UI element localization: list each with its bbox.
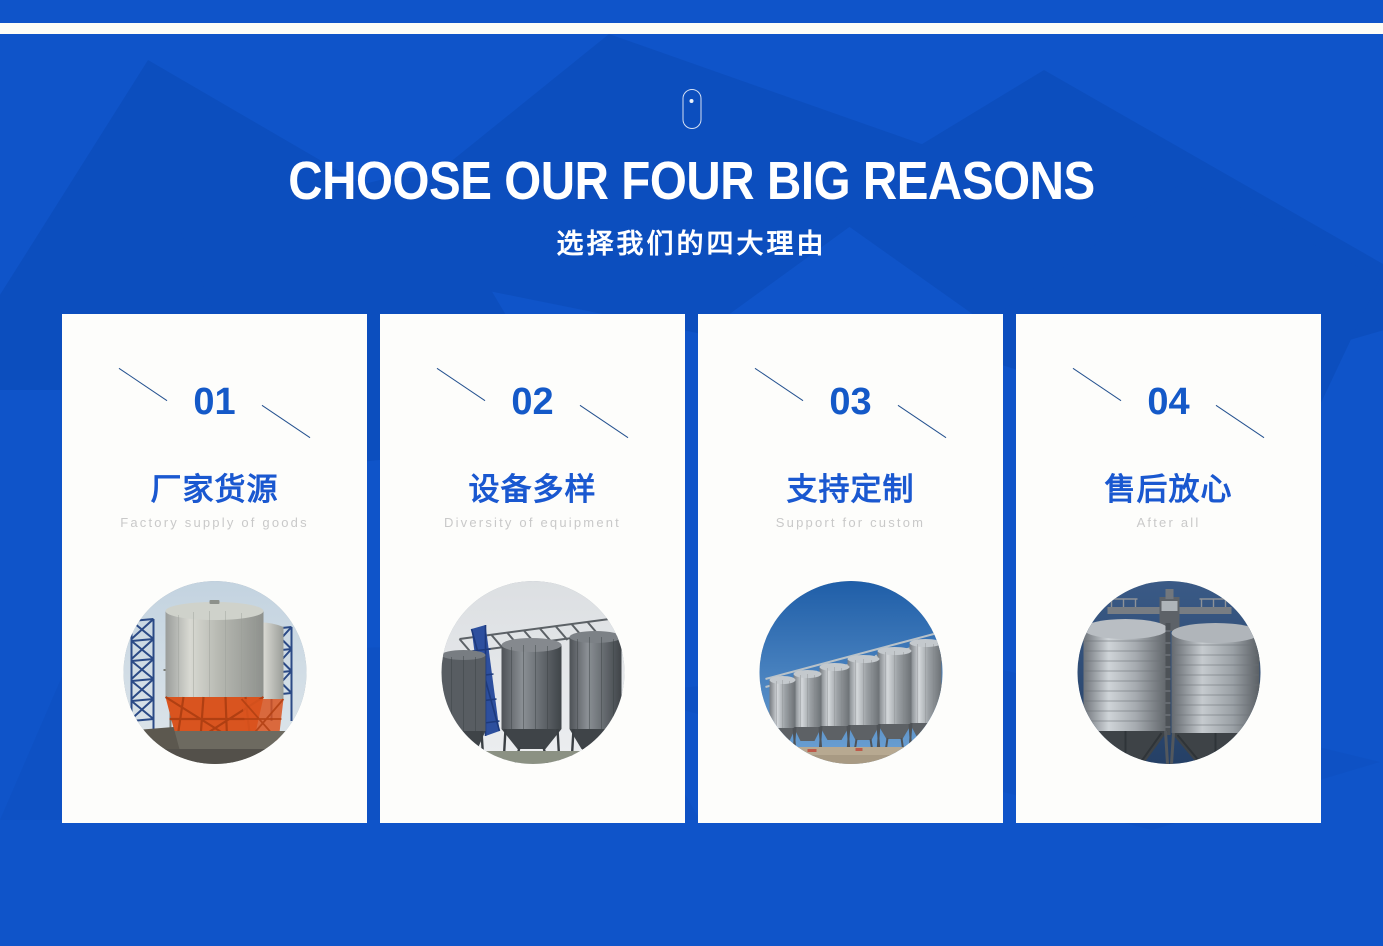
diagonal-line-right-icon (1216, 405, 1265, 438)
card-title-cn: 支持定制 (698, 464, 1003, 509)
diagonal-line-right-icon (262, 405, 311, 438)
reason-card[interactable]: 02 设备多样 Diversity of equipment (380, 314, 685, 823)
card-title-cn: 厂家货源 (62, 464, 367, 509)
card-title-cn: 设备多样 (380, 464, 685, 509)
diagonal-line-right-icon (898, 405, 947, 438)
card-number-wrap: 04 (1016, 372, 1321, 432)
mouse-scroll-dot (690, 99, 694, 103)
card-number-wrap: 02 (380, 372, 685, 432)
silo-row-blue-sky-photo (759, 581, 942, 764)
page-subtitle: 选择我们的四大理由 (0, 222, 1383, 261)
card-number: 03 (829, 383, 871, 421)
card-number: 04 (1147, 383, 1189, 421)
card-title-en: Support for custom (698, 514, 1003, 533)
reason-card[interactable]: 01 厂家货源 Factory supply of goods (62, 314, 367, 823)
reason-card[interactable]: 04 售后放心 After all (1016, 314, 1321, 823)
card-title-cn: 售后放心 (1016, 464, 1321, 509)
top-blue-strip (0, 0, 1383, 23)
diagonal-line-left-icon (755, 368, 804, 401)
card-title-en: After all (1016, 514, 1321, 533)
page-title: CHOOSE OUR FOUR BIG REASONS (83, 154, 1300, 208)
silo-cluster-conveyor-photo (441, 581, 624, 764)
top-white-divider (0, 23, 1383, 34)
reason-card-list: 01 厂家货源 Factory supply of goods (62, 314, 1321, 823)
twin-silos-closeup-photo (1077, 581, 1260, 764)
card-number-wrap: 01 (62, 372, 367, 432)
card-number-wrap: 03 (698, 372, 1003, 432)
card-title-en: Diversity of equipment (380, 514, 685, 533)
diagonal-line-left-icon (1073, 368, 1122, 401)
reason-card[interactable]: 03 支持定制 Support for custom (698, 314, 1003, 823)
diagonal-line-left-icon (119, 368, 168, 401)
card-number: 01 (193, 383, 235, 421)
page-root: CHOOSE OUR FOUR BIG REASONS 选择我们的四大理由 01… (0, 0, 1383, 946)
diagonal-line-right-icon (580, 405, 629, 438)
diagonal-line-left-icon (437, 368, 486, 401)
card-title-en: Factory supply of goods (62, 514, 367, 533)
silo-factory-orange-base-photo (123, 581, 306, 764)
card-number: 02 (511, 383, 553, 421)
mouse-scroll-icon[interactable] (682, 89, 701, 129)
